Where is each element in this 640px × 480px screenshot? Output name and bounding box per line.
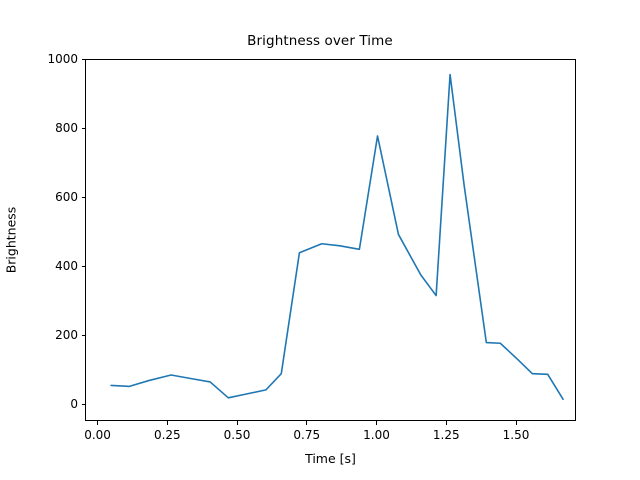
y-tick-label: 800 [55,121,78,135]
x-tick-label: 0.75 [293,428,320,442]
y-tick-label: 600 [55,190,78,204]
y-tick-label: 0 [70,397,78,411]
x-tick-label: 1.25 [433,428,460,442]
chart-title: Brightness over Time [0,33,640,49]
x-tick-label: 0.25 [154,428,181,442]
x-tick-label: 0.50 [224,428,251,442]
x-axis-label: Time [s] [85,451,576,466]
x-tick-label: 1.50 [503,428,530,442]
y-tick-label: 1000 [47,52,78,66]
x-tick-label: 1.00 [363,428,390,442]
plot-area [85,59,576,421]
data-line-svg [86,60,577,422]
brightness-line-series [111,75,563,400]
x-tick-label: 0.00 [84,428,111,442]
y-tick-label: 400 [55,259,78,273]
y-axis-label: Brightness [4,207,19,274]
chart-figure: Brightness over Time 02004006008001000 0… [0,0,640,480]
y-tick-label: 200 [55,328,78,342]
